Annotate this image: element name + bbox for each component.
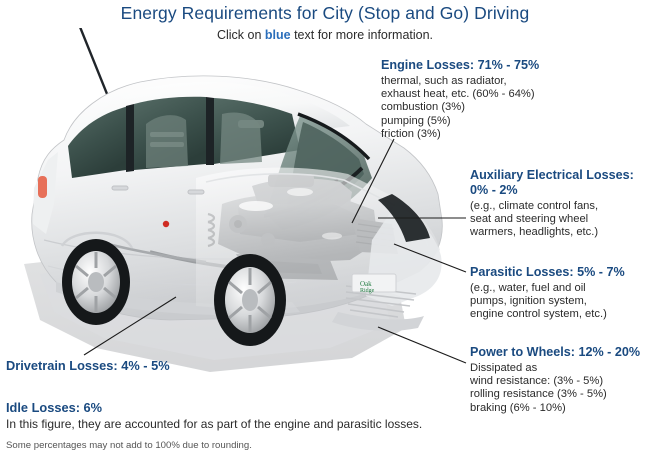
callout-idle-line-1: In this figure, they are accounted for a… (6, 417, 466, 432)
reference-marker (163, 221, 169, 227)
callout-engine-heading[interactable]: Engine Losses: 71% - 75% (381, 58, 643, 73)
callout-engine-losses[interactable]: Engine Losses: 71% - 75% thermal, such a… (381, 58, 643, 141)
subtitle-post-text: text for more information. (291, 28, 433, 42)
callout-engine-line-2: exhaust heat, etc. (60% - 64%) (381, 88, 643, 101)
callout-idle-losses[interactable]: Idle Losses: 6% In this figure, they are… (6, 400, 466, 432)
callout-power-to-wheels[interactable]: Power to Wheels: 12% - 20% Dissipated as… (470, 345, 648, 415)
callout-engine-line-5: friction (3%) (381, 128, 643, 141)
callout-engine-body: thermal, such as radiator, exhaust heat,… (381, 75, 643, 141)
subtitle-blue-word: blue (265, 28, 291, 42)
callout-drivetrain-losses[interactable]: Drivetrain Losses: 4% - 5% (6, 358, 266, 375)
page-title: Energy Requirements for City (Stop and G… (0, 0, 650, 24)
callout-idle-heading[interactable]: Idle Losses: 6% (6, 400, 466, 415)
taillight (38, 176, 47, 198)
page-subtitle: Click on blue text for more information. (0, 24, 650, 42)
svg-text:Ridge: Ridge (360, 288, 375, 294)
callout-engine-line-4: pumping (5%) (381, 115, 643, 128)
callout-idle-body: In this figure, they are accounted for a… (6, 417, 466, 432)
callout-engine-line-3: combustion (3%) (381, 101, 643, 114)
subtitle-pre-text: Click on (217, 28, 265, 42)
callout-parasitic-line-2: pumps, ignition system, (470, 295, 648, 308)
callout-auxiliary-line-2: seat and steering wheel (470, 213, 648, 226)
infographic-page: Energy Requirements for City (Stop and G… (0, 0, 650, 460)
callout-power-body: Dissipated as wind resistance: (3% - 5%)… (470, 362, 648, 415)
callout-power-line-2: wind resistance: (3% - 5%) (470, 375, 648, 388)
callout-power-line-1: Dissipated as (470, 362, 648, 375)
header: Energy Requirements for City (Stop and G… (0, 0, 650, 42)
callout-drivetrain-heading[interactable]: Drivetrain Losses: 4% - 5% (6, 358, 266, 373)
callout-parasitic-body: (e.g., water, fuel and oil pumps, igniti… (470, 282, 648, 322)
callout-power-line-4: braking (6% - 10%) (470, 402, 648, 415)
callout-auxiliary-line-1: (e.g., climate control fans, (470, 200, 648, 213)
callout-auxiliary-line-3: warmers, headlights, etc.) (470, 226, 648, 239)
callout-parasitic-line-3: engine control system, etc.) (470, 308, 648, 321)
rounding-footnote: Some percentages may not add to 100% due… (6, 440, 252, 451)
svg-text:Oak: Oak (360, 280, 372, 288)
callout-auxiliary-electrical-losses[interactable]: Auxiliary Electrical Losses: 0% - 2% (e.… (470, 168, 648, 240)
callout-auxiliary-body: (e.g., climate control fans, seat and st… (470, 200, 648, 240)
callout-parasitic-losses[interactable]: Parasitic Losses: 5% - 7% (e.g., water, … (470, 265, 648, 322)
callout-parasitic-line-1: (e.g., water, fuel and oil (470, 282, 648, 295)
callout-engine-line-1: thermal, such as radiator, (381, 75, 643, 88)
callout-power-heading[interactable]: Power to Wheels: 12% - 20% (470, 345, 648, 360)
callout-power-line-3: rolling resistance (3% - 5%) (470, 388, 648, 401)
front-wheel (214, 254, 286, 346)
callout-parasitic-heading[interactable]: Parasitic Losses: 5% - 7% (470, 265, 648, 280)
callout-auxiliary-heading[interactable]: Auxiliary Electrical Losses: 0% - 2% (470, 168, 648, 198)
